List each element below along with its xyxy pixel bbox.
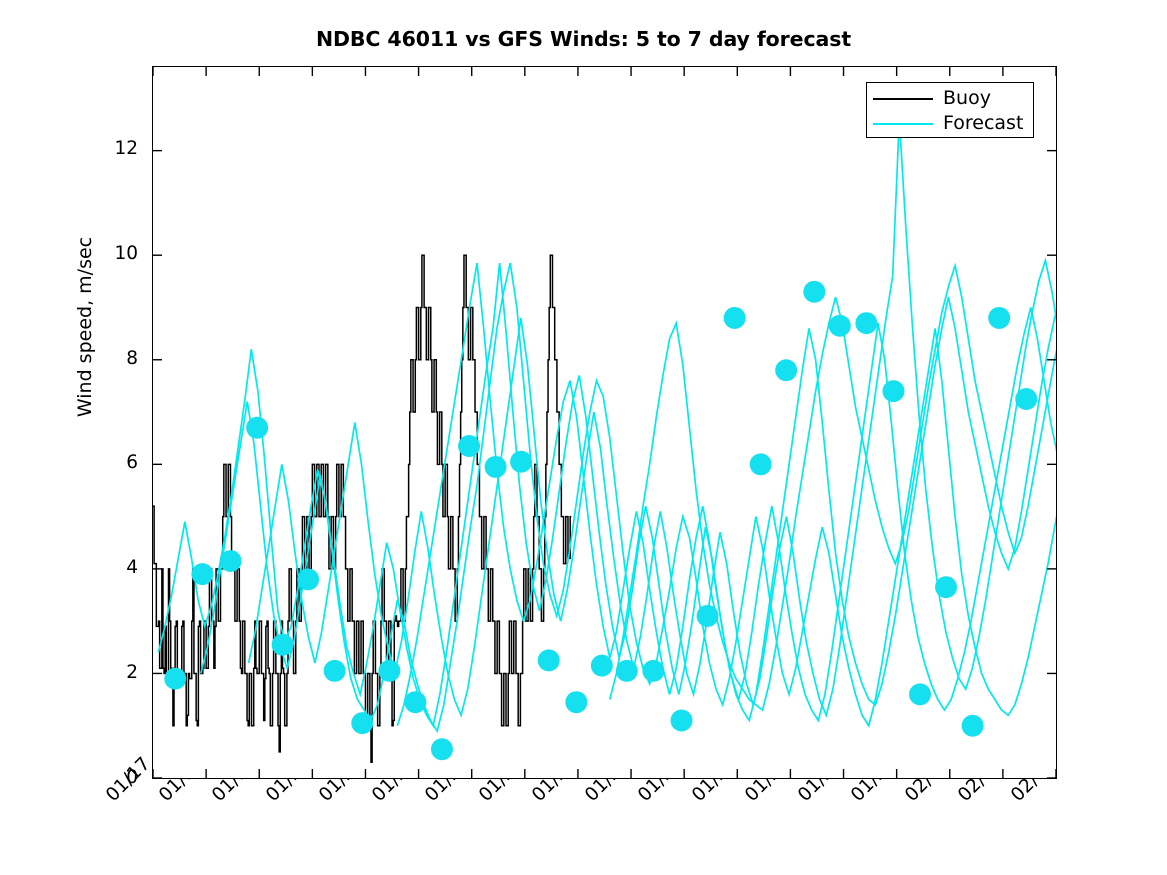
legend-label-buoy: Buoy bbox=[943, 89, 991, 108]
y-tick-label: 12 bbox=[94, 140, 138, 159]
legend-item-forecast: Forecast bbox=[873, 111, 1027, 136]
legend-swatch-buoy bbox=[873, 98, 933, 100]
scatter-point bbox=[642, 660, 664, 682]
scatter-point bbox=[485, 456, 507, 478]
scatter-point bbox=[988, 307, 1010, 329]
scatter-point bbox=[565, 691, 587, 713]
scatter-point bbox=[671, 710, 693, 732]
scatter-point bbox=[829, 315, 851, 337]
scatter-point bbox=[1015, 388, 1037, 410]
scatter-point bbox=[935, 576, 957, 598]
scatter-point bbox=[775, 359, 797, 381]
scatter-point bbox=[962, 715, 984, 737]
scatter-point bbox=[882, 380, 904, 402]
chart-canvas bbox=[153, 67, 1056, 778]
scatter-point bbox=[164, 668, 186, 690]
scatter-point bbox=[324, 660, 346, 682]
scatter-point bbox=[591, 655, 613, 677]
series-line-forecast-run-3 bbox=[249, 119, 1056, 715]
scatter-point bbox=[855, 312, 877, 334]
scatter-point bbox=[351, 712, 373, 734]
y-tick-label: 10 bbox=[94, 245, 138, 264]
legend-label-forecast: Forecast bbox=[943, 114, 1023, 133]
scatter-point bbox=[616, 660, 638, 682]
y-tick-label: 6 bbox=[94, 454, 138, 473]
scatter-point bbox=[803, 281, 825, 303]
plot-area bbox=[152, 66, 1057, 779]
legend-swatch-forecast bbox=[873, 123, 933, 125]
scatter-point bbox=[724, 307, 746, 329]
y-tick-label: 8 bbox=[94, 350, 138, 369]
scatter-point bbox=[297, 568, 319, 590]
scatter-point bbox=[510, 451, 532, 473]
scatter-point bbox=[697, 605, 719, 627]
chart-page: NDBC 46011 vs GFS Winds: 5 to 7 day fore… bbox=[0, 0, 1167, 875]
scatter-point bbox=[246, 417, 268, 439]
scatter-point bbox=[750, 453, 772, 475]
scatter-point bbox=[378, 660, 400, 682]
y-tick-label: 2 bbox=[94, 664, 138, 683]
legend-item-buoy: Buoy bbox=[873, 86, 1027, 111]
scatter-point bbox=[538, 649, 560, 671]
legend: Buoy Forecast bbox=[866, 82, 1034, 138]
y-tick-label: 4 bbox=[94, 559, 138, 578]
scatter-point bbox=[220, 550, 242, 572]
scatter-point bbox=[404, 691, 426, 713]
page-title: NDBC 46011 vs GFS Winds: 5 to 7 day fore… bbox=[0, 27, 1167, 51]
scatter-point bbox=[191, 563, 213, 585]
scatter-point bbox=[272, 634, 294, 656]
scatter-point bbox=[909, 683, 931, 705]
scatter-point bbox=[458, 435, 480, 457]
scatter-point bbox=[431, 738, 453, 760]
y-axis-label: Wind speed, m/sec bbox=[74, 212, 96, 442]
